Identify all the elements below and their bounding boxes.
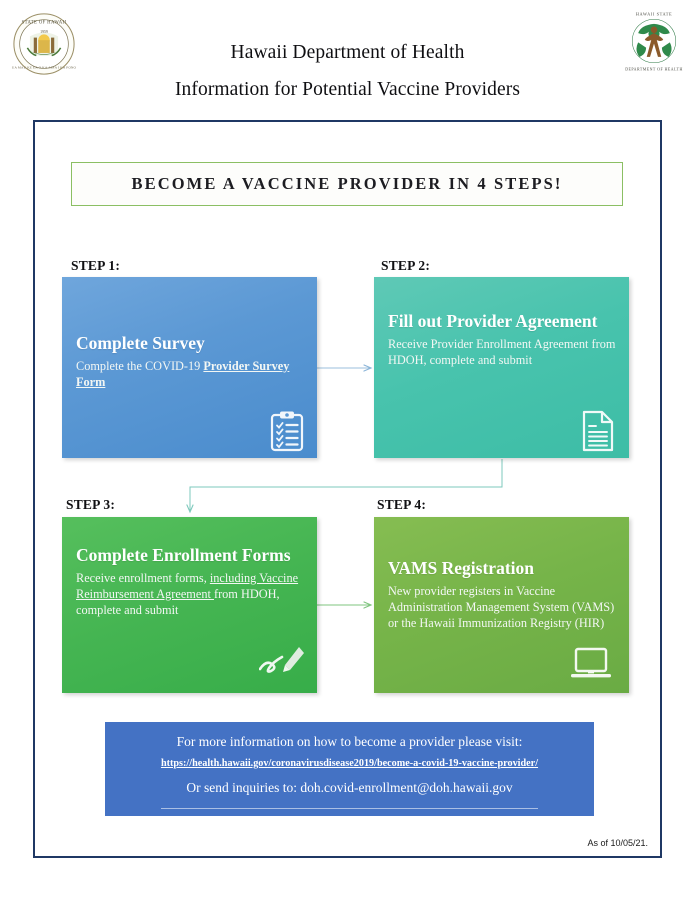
step-2-title: Fill out Provider Agreement — [388, 310, 617, 332]
step-2-body: Receive Provider Enrollment Agreement fr… — [388, 337, 617, 369]
step-1-content: Complete Survey Complete the COVID-19 Pr… — [76, 332, 305, 391]
document-icon — [581, 410, 615, 452]
svg-text:HAWAII STATE: HAWAII STATE — [636, 11, 672, 16]
signature-pen-icon — [259, 643, 305, 679]
step-3-body-prefix: Receive enrollment forms, — [76, 571, 210, 585]
svg-text:STATE OF HAWAII: STATE OF HAWAII — [22, 21, 67, 26]
headline-banner: BECOME A VACCINE PROVIDER IN 4 STEPS! — [71, 162, 623, 206]
laptop-icon — [570, 647, 612, 681]
step-1-body: Complete the COVID-19 Provider Survey Fo… — [76, 359, 305, 391]
step-4-label: STEP 4: — [377, 497, 426, 513]
page-header: STATE OF HAWAII 1959 UA MAU KE EA O KA A… — [0, 0, 695, 118]
svg-text:DEPARTMENT OF HEALTH: DEPARTMENT OF HEALTH — [625, 67, 683, 72]
step-3-body: Receive enrollment forms, including Vacc… — [76, 571, 305, 619]
step-1-body-prefix: Complete the COVID-19 — [76, 359, 203, 373]
svg-text:1959: 1959 — [40, 30, 48, 34]
step-4-title: VAMS Registration — [388, 557, 617, 579]
step-1-label: STEP 1: — [71, 258, 120, 274]
as-of-date: As of 10/05/21. — [508, 838, 648, 848]
step-4-content: VAMS Registration New provider registers… — [388, 557, 617, 632]
step-1-title: Complete Survey — [76, 332, 305, 354]
info-box-link[interactable]: https://health.hawaii.gov/coronavirusdis… — [105, 758, 594, 769]
info-box-line-1: For more information on how to become a … — [105, 734, 594, 750]
headline-banner-text: BECOME A VACCINE PROVIDER IN 4 STEPS! — [132, 174, 563, 194]
step-2-card: Fill out Provider Agreement Receive Prov… — [374, 277, 629, 458]
step-3-label: STEP 3: — [66, 497, 115, 513]
svg-text:UA MAU KE EA O KA AINA I KA PO: UA MAU KE EA O KA AINA I KA PONO — [12, 65, 76, 69]
step-4-body: New provider registers in Vaccine Admini… — [388, 584, 617, 632]
hawaii-department-of-health-logo: HAWAII STATE DEPARTMENT OF HEALTH — [621, 8, 687, 74]
clipboard-checklist-icon — [270, 410, 304, 452]
more-information-box: For more information on how to become a … — [105, 722, 594, 816]
info-box-divider — [161, 808, 538, 809]
page-subtitle: Information for Potential Vaccine Provid… — [0, 79, 695, 101]
step-3-card: Complete Enrollment Forms Receive enroll… — [62, 517, 317, 693]
info-box-line-3: Or send inquiries to: doh.covid-enrollme… — [105, 780, 594, 796]
page-title: Hawaii Department of Health — [0, 42, 695, 64]
step-2-label: STEP 2: — [381, 258, 430, 274]
step-4-card: VAMS Registration New provider registers… — [374, 517, 629, 693]
step-1-card: Complete Survey Complete the COVID-19 Pr… — [62, 277, 317, 458]
step-3-title: Complete Enrollment Forms — [76, 544, 305, 566]
step-2-content: Fill out Provider Agreement Receive Prov… — [388, 310, 617, 369]
step-3-content: Complete Enrollment Forms Receive enroll… — [76, 544, 305, 619]
